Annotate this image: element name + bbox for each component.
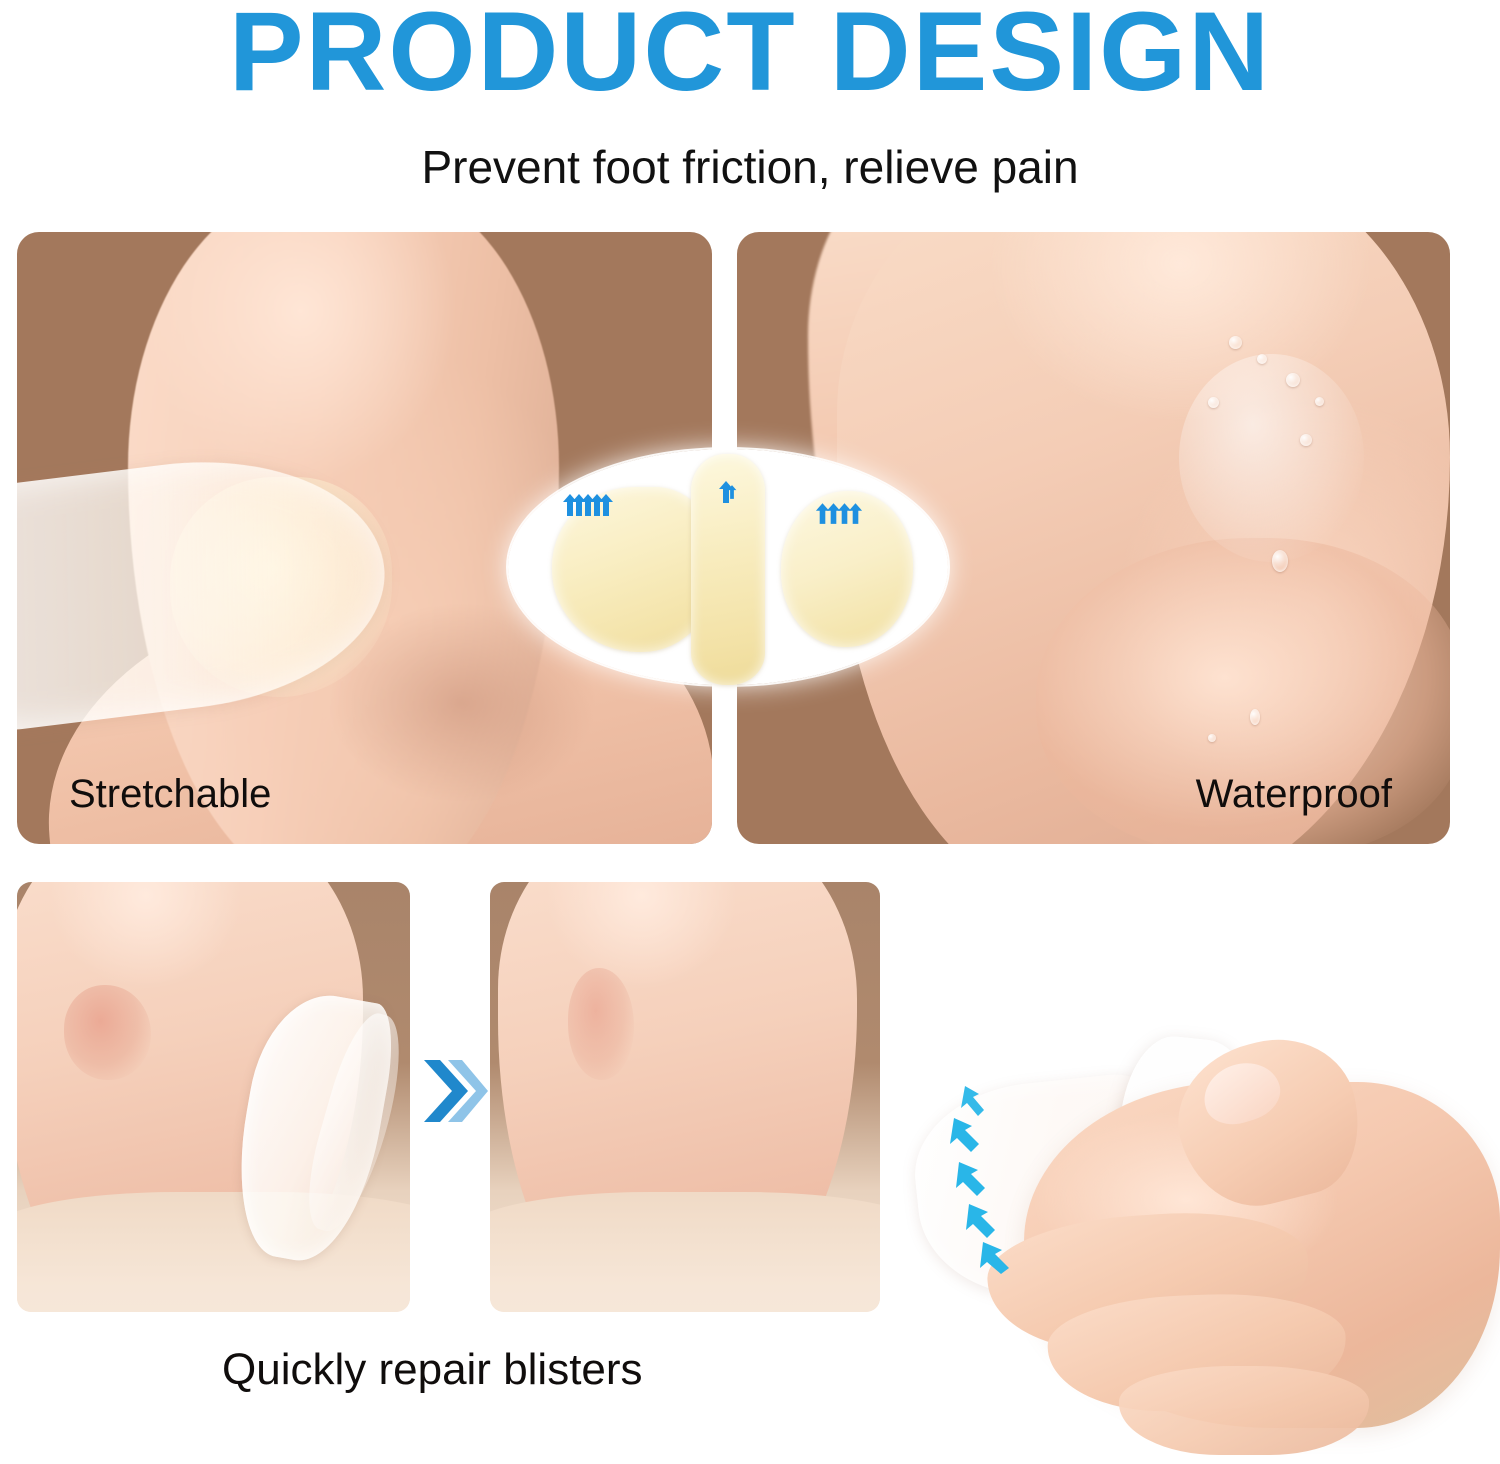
water-droplet — [1272, 550, 1288, 572]
table-surface — [490, 1192, 880, 1312]
water-droplet — [1229, 336, 1242, 349]
panel-blister-after — [490, 882, 880, 1312]
panel-blister-before — [17, 882, 410, 1312]
peel-direction-arrows — [931, 1084, 1051, 1274]
product-callout-oval — [508, 449, 948, 685]
chevron-right-icon — [418, 1052, 488, 1130]
page-title: PRODUCT DESIGN — [0, 0, 1500, 108]
caption-waterproof: Waterproof — [1196, 772, 1392, 816]
ring-finger — [1119, 1366, 1369, 1455]
caption-stretchable: Stretchable — [69, 772, 271, 816]
water-droplet — [1208, 397, 1219, 408]
progress-chevrons — [418, 1052, 488, 1130]
patch-sheen — [1179, 354, 1364, 562]
water-droplet — [1315, 397, 1324, 406]
water-droplet — [1286, 373, 1300, 387]
peel-backing-demo — [905, 1020, 1500, 1464]
infographic-canvas: PRODUCT DESIGN Prevent foot friction, re… — [0, 0, 1500, 1464]
caption-quickly-repair-blisters: Quickly repair blisters — [222, 1348, 643, 1392]
page-subtitle: Prevent foot friction, relieve pain — [0, 140, 1500, 194]
blister-mark — [64, 985, 150, 1080]
water-droplet — [1208, 734, 1216, 742]
